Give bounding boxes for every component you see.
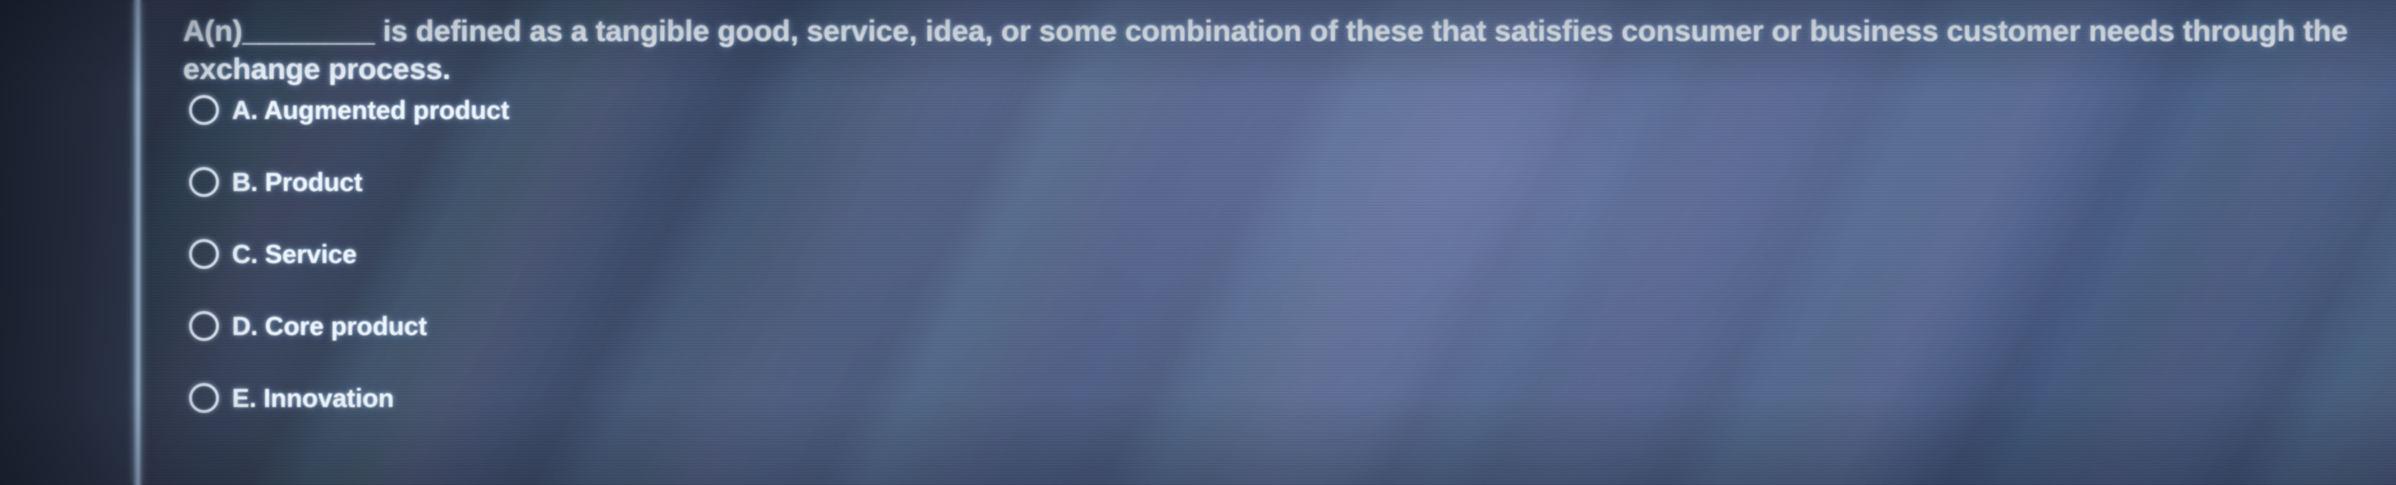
radio-button-icon[interactable] — [189, 95, 219, 125]
answer-option-label: A. Augmented product — [232, 95, 509, 126]
radio-button-icon[interactable] — [189, 239, 219, 269]
answer-option-d[interactable]: D. Core product — [189, 290, 1289, 362]
question-panel: A(n)________ is defined as a tangible go… — [142, 0, 2396, 485]
photographed-screen: A(n)________ is defined as a tangible go… — [0, 0, 2396, 485]
radio-button-icon[interactable] — [189, 383, 219, 413]
answer-option-b[interactable]: B. Product — [189, 146, 1289, 218]
left-gutter — [0, 0, 133, 485]
answer-option-label: E. Innovation — [232, 383, 394, 414]
radio-button-icon[interactable] — [189, 167, 219, 197]
radio-button-icon[interactable] — [189, 311, 219, 341]
answer-options-list: A. Augmented product B. Product C. Servi… — [189, 74, 1289, 434]
answer-option-c[interactable]: C. Service — [189, 218, 1289, 290]
answer-option-a[interactable]: A. Augmented product — [189, 74, 1289, 146]
vertical-divider-line — [133, 0, 142, 485]
answer-option-e[interactable]: E. Innovation — [189, 362, 1289, 434]
answer-option-label: B. Product — [232, 167, 362, 198]
answer-option-label: D. Core product — [232, 311, 427, 342]
answer-option-label: C. Service — [232, 239, 357, 270]
